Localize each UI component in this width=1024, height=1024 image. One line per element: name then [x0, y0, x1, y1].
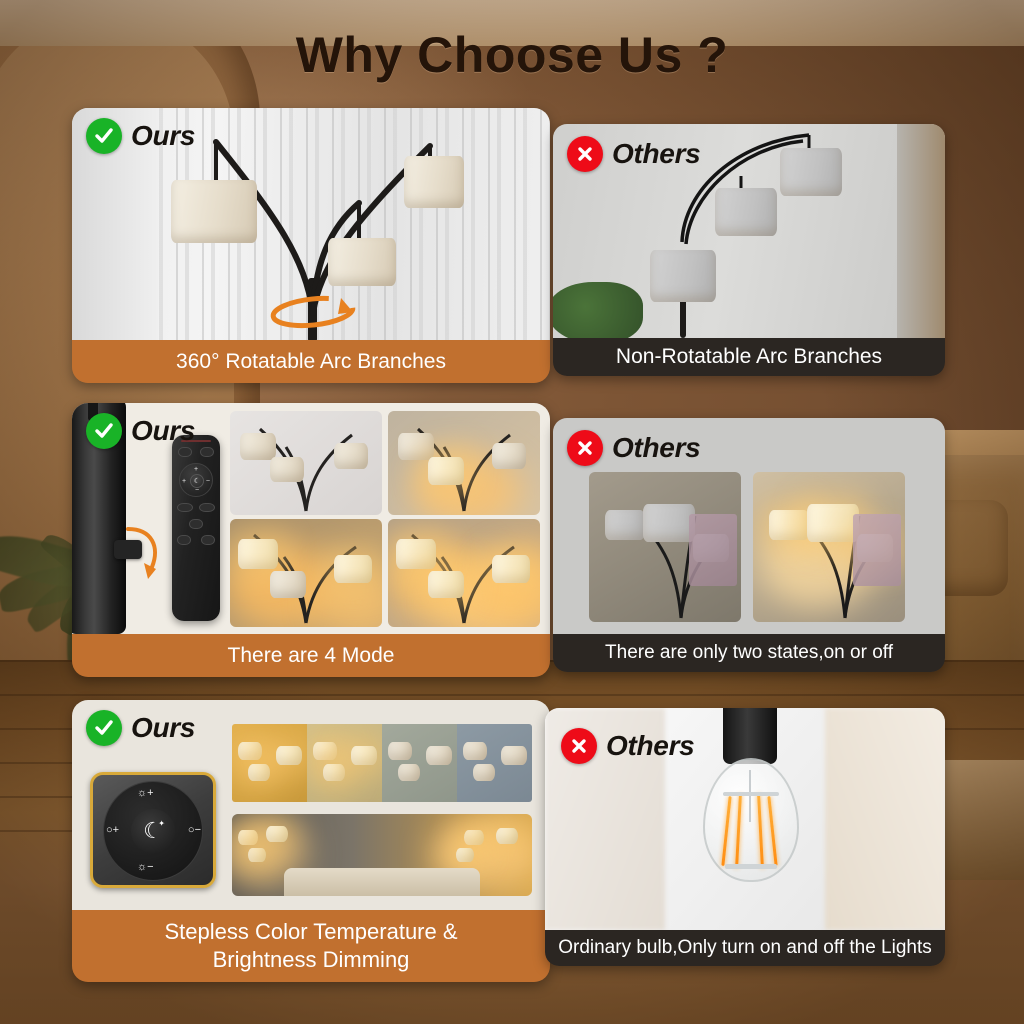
x-circle-icon	[567, 430, 603, 466]
check-circle-icon	[86, 118, 122, 154]
badge-ours-label: Ours	[131, 714, 195, 742]
badge-ours-label: Ours	[131, 122, 195, 150]
check-circle-icon	[86, 710, 122, 746]
temp-swatch-4	[457, 724, 532, 802]
mode-tile-1	[230, 411, 382, 515]
remote-cool-icon: −	[206, 478, 210, 485]
others-state-on	[753, 472, 905, 622]
remote-dpad[interactable]: + + − − ☾	[179, 463, 213, 497]
badge-ours-modes: Ours	[86, 413, 195, 449]
x-circle-icon	[561, 728, 597, 764]
page-title: Why Choose Us ?	[0, 26, 1024, 84]
temp-swatch-3	[382, 724, 457, 802]
dial-label-top: ☼+	[137, 788, 154, 799]
remote-mode-1-button[interactable]	[189, 519, 203, 529]
row-modes-others-photo: Others	[553, 418, 945, 634]
dial-label-left: ○+	[106, 825, 119, 836]
badge-ours-rotation: Ours	[86, 118, 195, 154]
row-modes-others-card: Others There are only two states,on or o…	[553, 418, 945, 672]
caption-line-2: Brightness Dimming	[213, 946, 410, 974]
badge-others-rotation: Others	[567, 136, 700, 172]
row-dimming-ours-photo: ☾ ✦ ☼+ ☼− ○+ ○−	[72, 700, 550, 910]
check-circle-icon	[86, 413, 122, 449]
color-temperature-strip	[232, 724, 532, 802]
row-modes-others-caption: There are only two states,on or off	[553, 634, 945, 672]
mode-tile-2	[388, 411, 540, 515]
knob-rotation-arrow-icon	[120, 523, 172, 585]
row-dimming-others-photo: Others	[545, 708, 945, 930]
remote-timer-button[interactable]	[177, 503, 193, 512]
caption-line-1: Stepless Color Temperature &	[164, 918, 457, 946]
remote-power-on-button[interactable]	[200, 447, 214, 457]
badge-others-dimming: Others	[561, 728, 694, 764]
mode-tile-3	[230, 519, 382, 627]
others-plant	[553, 282, 643, 338]
mode-tile-4	[388, 519, 540, 627]
badge-ours-label: Ours	[131, 417, 195, 445]
temp-swatch-2	[307, 724, 382, 802]
others-state-off	[589, 472, 741, 622]
badge-others-label: Others	[612, 140, 700, 168]
row-dimming-ours-card: ☾ ✦ ☼+ ☼− ○+ ○−	[72, 700, 550, 982]
remote-memory-button[interactable]	[199, 503, 215, 512]
remote-mode-3-button[interactable]	[201, 535, 215, 545]
row-rotation-others-caption: Non-Rotatable Arc Branches	[553, 338, 945, 376]
control-dial[interactable]: ☾ ✦ ☼+ ☼− ○+ ○−	[90, 772, 216, 888]
bulb-base	[723, 708, 777, 764]
dial-label-bottom: ☼−	[137, 862, 154, 873]
comparison-board: Ours 360° Rotatable Arc Branches	[0, 0, 1024, 1024]
remote-control[interactable]: + + − − ☾	[172, 435, 220, 621]
badge-ours-dimming: Ours	[86, 710, 195, 746]
row-modes-ours-photo: + + − − ☾	[72, 403, 550, 634]
row-rotation-others-card: Others Non-Rotatable Arc Branches	[553, 124, 945, 376]
bulb-stem	[749, 770, 751, 822]
row-dimming-others-card: Others Ordinary bulb,Only turn on and of…	[545, 708, 945, 966]
stars-icon: ✦	[158, 819, 165, 828]
dial-label-right: ○−	[188, 825, 201, 836]
sofa-silhouette	[284, 868, 480, 896]
badge-others-label: Others	[606, 732, 694, 760]
badge-others-label: Others	[612, 434, 700, 462]
row-modes-ours-card: + + − − ☾	[72, 403, 550, 677]
dial-night-button[interactable]: ☾ ✦	[131, 809, 175, 853]
x-circle-icon	[567, 136, 603, 172]
badge-others-modes: Others	[567, 430, 700, 466]
row-rotation-ours-card: Ours 360° Rotatable Arc Branches	[72, 108, 550, 383]
row-dimming-others-caption: Ordinary bulb,Only turn on and off the L…	[545, 930, 945, 966]
remote-brightness-up-icon: +	[194, 466, 198, 473]
remote-brightness-down-icon: −	[195, 487, 199, 494]
rotation-arrow-icon	[258, 286, 368, 338]
row-rotation-ours-photo: Ours	[72, 108, 550, 340]
remote-warm-icon: +	[182, 478, 186, 485]
temp-swatch-1	[232, 724, 307, 802]
brightness-dimming-strip	[232, 814, 532, 896]
row-rotation-others-photo: Others	[553, 124, 945, 338]
row-rotation-ours-caption: 360° Rotatable Arc Branches	[72, 340, 550, 383]
row-dimming-ours-caption: Stepless Color Temperature & Brightness …	[72, 910, 550, 982]
remote-mode-2-button[interactable]	[177, 535, 191, 545]
row-modes-ours-caption: There are 4 Mode	[72, 634, 550, 677]
remote-night-mode-button[interactable]: ☾	[190, 474, 204, 488]
